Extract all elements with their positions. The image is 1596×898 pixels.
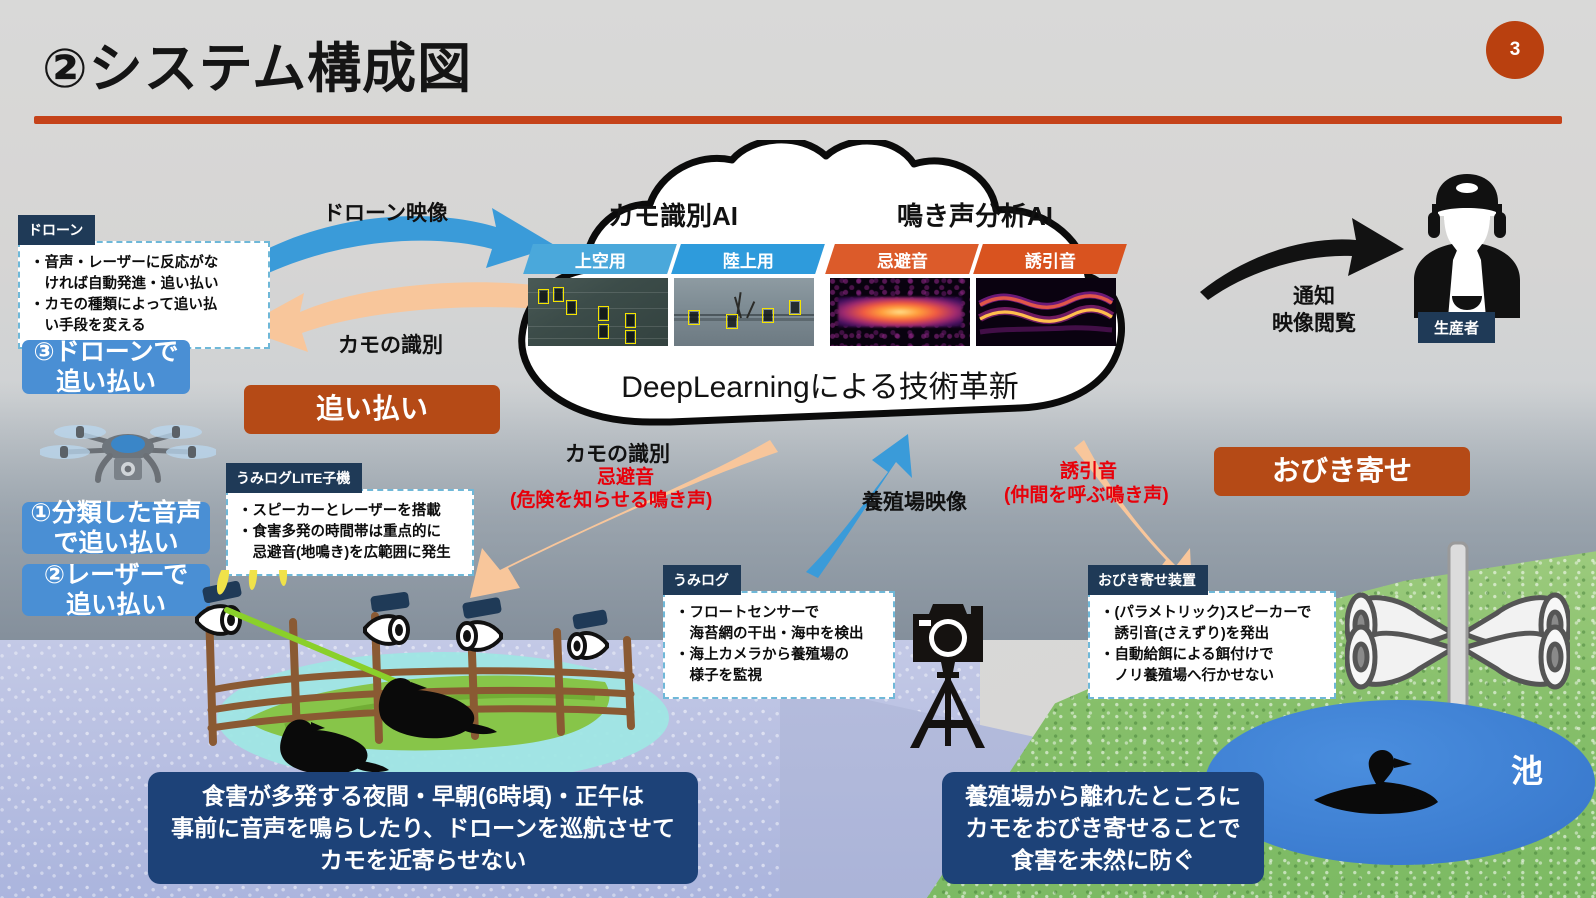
- banner-right-summary: 養殖場から離れたところに カモをおびき寄せることで 食害を未然に防ぐ: [942, 772, 1264, 884]
- page-number-badge: 3: [1486, 21, 1544, 79]
- pill-chase-away[interactable]: 追い払い: [244, 385, 500, 434]
- callout-umilog-lite-tab: うみログLITE子機: [226, 463, 362, 493]
- pond-label: 池: [1511, 746, 1543, 792]
- label-farm-video: 養殖場映像: [862, 489, 967, 516]
- ai-module-title: カモ識別AI: [528, 196, 818, 233]
- cloud-caption: DeepLearningによる技術革新: [500, 362, 1140, 406]
- label-duck-identification-left: カモの識別: [338, 332, 443, 359]
- ai-module-duck-identification: カモ識別AI 上空用 陸上用: [528, 244, 820, 346]
- tab-ground-label: 陸上用: [723, 247, 774, 272]
- tab-lure-sound-label: 誘引音: [1025, 247, 1076, 272]
- callout-lure-device-body: ・(パラメトリック)スピーカーで 誘引音(さえずり)を発出 ・自動給餌による餌付…: [1088, 591, 1336, 699]
- ai-module-title: 鳴き声分析AI: [830, 196, 1120, 233]
- callout-umilog-lite-body: ・スピーカーとレーザーを搭載 ・食害多発の時間帯は重点的に 忌避音(地鳴き)を広…: [226, 489, 474, 576]
- tab-avoidance-sound-label: 忌避音: [877, 247, 928, 272]
- nori-farm-illustration: [175, 570, 695, 795]
- cloud-content: カモ識別AI 上空用 陸上用: [500, 140, 1140, 430]
- label-lure-sound: 誘引音: [1060, 460, 1117, 485]
- title-divider: [34, 116, 1562, 124]
- label-duck-identification-center: カモの識別: [565, 441, 670, 468]
- label-avoidance-sound: 忌避音: [597, 466, 654, 491]
- pond-duck-silhouette: [1310, 744, 1440, 822]
- producer-icon: [1398, 168, 1536, 318]
- tab-aerial[interactable]: 上空用: [523, 244, 677, 274]
- ai-module-call-analysis: 鳴き声分析AI 忌避音 誘引音: [830, 244, 1122, 346]
- producer-name-tag: 生産者: [1418, 312, 1495, 343]
- drone-illustration: [40, 400, 216, 486]
- label-lure-sound-sub: (仲間を呼ぶ鳴き声): [1004, 484, 1169, 509]
- callout-lure-device: おびき寄せ装置 ・(パラメトリック)スピーカーで 誘引音(さえずり)を発出 ・自…: [1088, 565, 1336, 699]
- ai-thumbnail-row: [528, 278, 820, 346]
- callout-drone-body: ・音声・レーザーに反応がな ければ自動発進・追い払い ・カモの種類によって追い払…: [18, 241, 270, 349]
- thumbnail-ground-detection: [674, 278, 814, 346]
- tab-lure-sound[interactable]: 誘引音: [973, 244, 1127, 274]
- page-title: ②システム構成図: [42, 24, 472, 103]
- slide-root: ②システム構成図 3 カモ識別AI 上空用 陸: [0, 0, 1596, 898]
- tab-aerial-label: 上空用: [575, 247, 626, 272]
- camera-tripod-icon: [893, 588, 1003, 753]
- pill-method-3[interactable]: ③ドローンで 追い払い: [22, 340, 190, 394]
- ai-thumbnail-row: [830, 278, 1122, 346]
- ai-tab-row: 上空用 陸上用: [528, 244, 820, 274]
- pill-lure-in[interactable]: おびき寄せ: [1214, 447, 1470, 496]
- tab-avoidance-sound[interactable]: 忌避音: [825, 244, 979, 274]
- callout-umilog-lite: うみログLITE子機 ・スピーカーとレーザーを搭載 ・食害多発の時間帯は重点的に…: [226, 463, 474, 576]
- pill-method-1[interactable]: ①分類した音声 で追い払い: [22, 502, 210, 554]
- callout-drone-tab: ドローン: [18, 215, 95, 245]
- label-avoidance-sound-sub: (危険を知らせる鳴き声): [510, 489, 712, 514]
- callout-drone: ドローン ・音声・レーザーに反応がな ければ自動発進・追い払い ・カモの種類によ…: [18, 215, 270, 349]
- callout-umilog-tab: うみログ: [663, 565, 741, 595]
- callout-lure-device-tab: おびき寄せ装置: [1088, 565, 1208, 595]
- tab-ground[interactable]: 陸上用: [671, 244, 825, 274]
- label-drone-video: ドローン映像: [323, 200, 448, 227]
- ai-tab-row: 忌避音 誘引音: [830, 244, 1122, 274]
- callout-umilog-body: ・フロートセンサーで 海苔網の干出・海中を検出 ・海上カメラから養殖場の 様子を…: [663, 591, 895, 699]
- banner-left-summary: 食害が多発する夜間・早朝(6時頃)・正午は 事前に音声を鳴らしたり、ドローンを巡…: [148, 772, 698, 884]
- thumbnail-aerial-detection: [528, 278, 668, 346]
- spectrogram-lure: [976, 278, 1116, 346]
- label-notification: 通知 映像閲覧: [1272, 283, 1356, 338]
- spectrogram-avoidance: [830, 278, 970, 346]
- callout-umilog: うみログ ・フロートセンサーで 海苔網の干出・海中を検出 ・海上カメラから養殖場…: [663, 565, 895, 699]
